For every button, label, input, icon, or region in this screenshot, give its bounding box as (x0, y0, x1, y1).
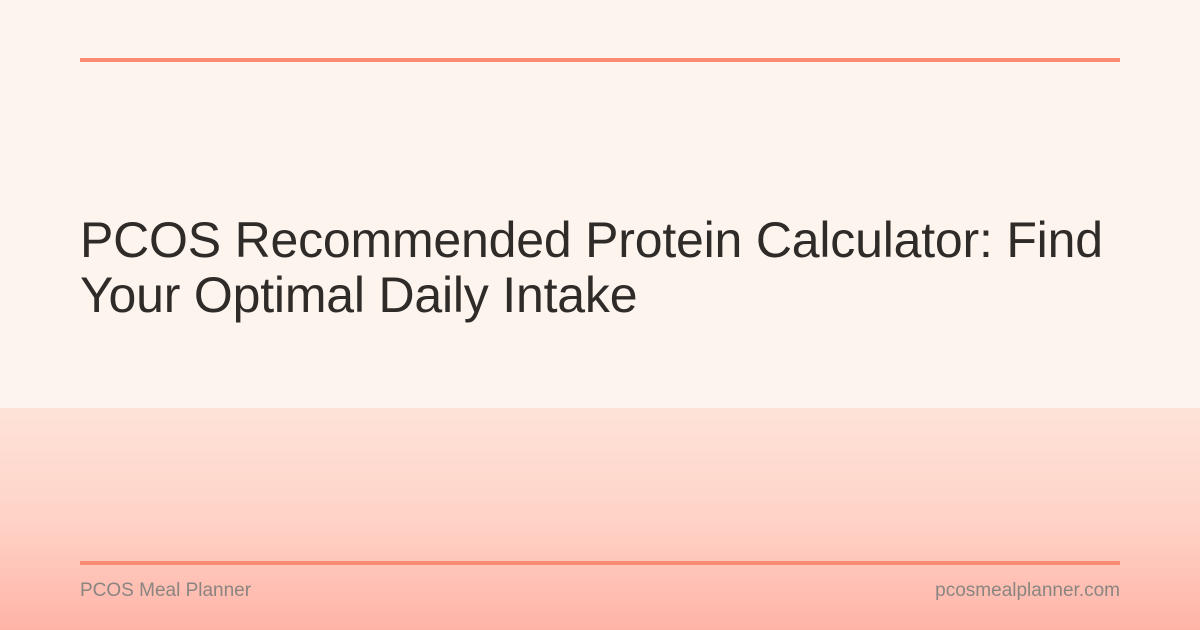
footer: PCOS Meal Planner pcosmealplanner.com (80, 578, 1120, 604)
footer-site-url: pcosmealplanner.com (935, 579, 1120, 603)
footer-brand-name: PCOS Meal Planner (80, 579, 251, 603)
bottom-accent-rule (80, 561, 1120, 565)
top-accent-rule (80, 58, 1120, 62)
share-card: PCOS Recommended Protein Calculator: Fin… (0, 0, 1200, 630)
page-title: PCOS Recommended Protein Calculator: Fin… (80, 213, 1120, 323)
